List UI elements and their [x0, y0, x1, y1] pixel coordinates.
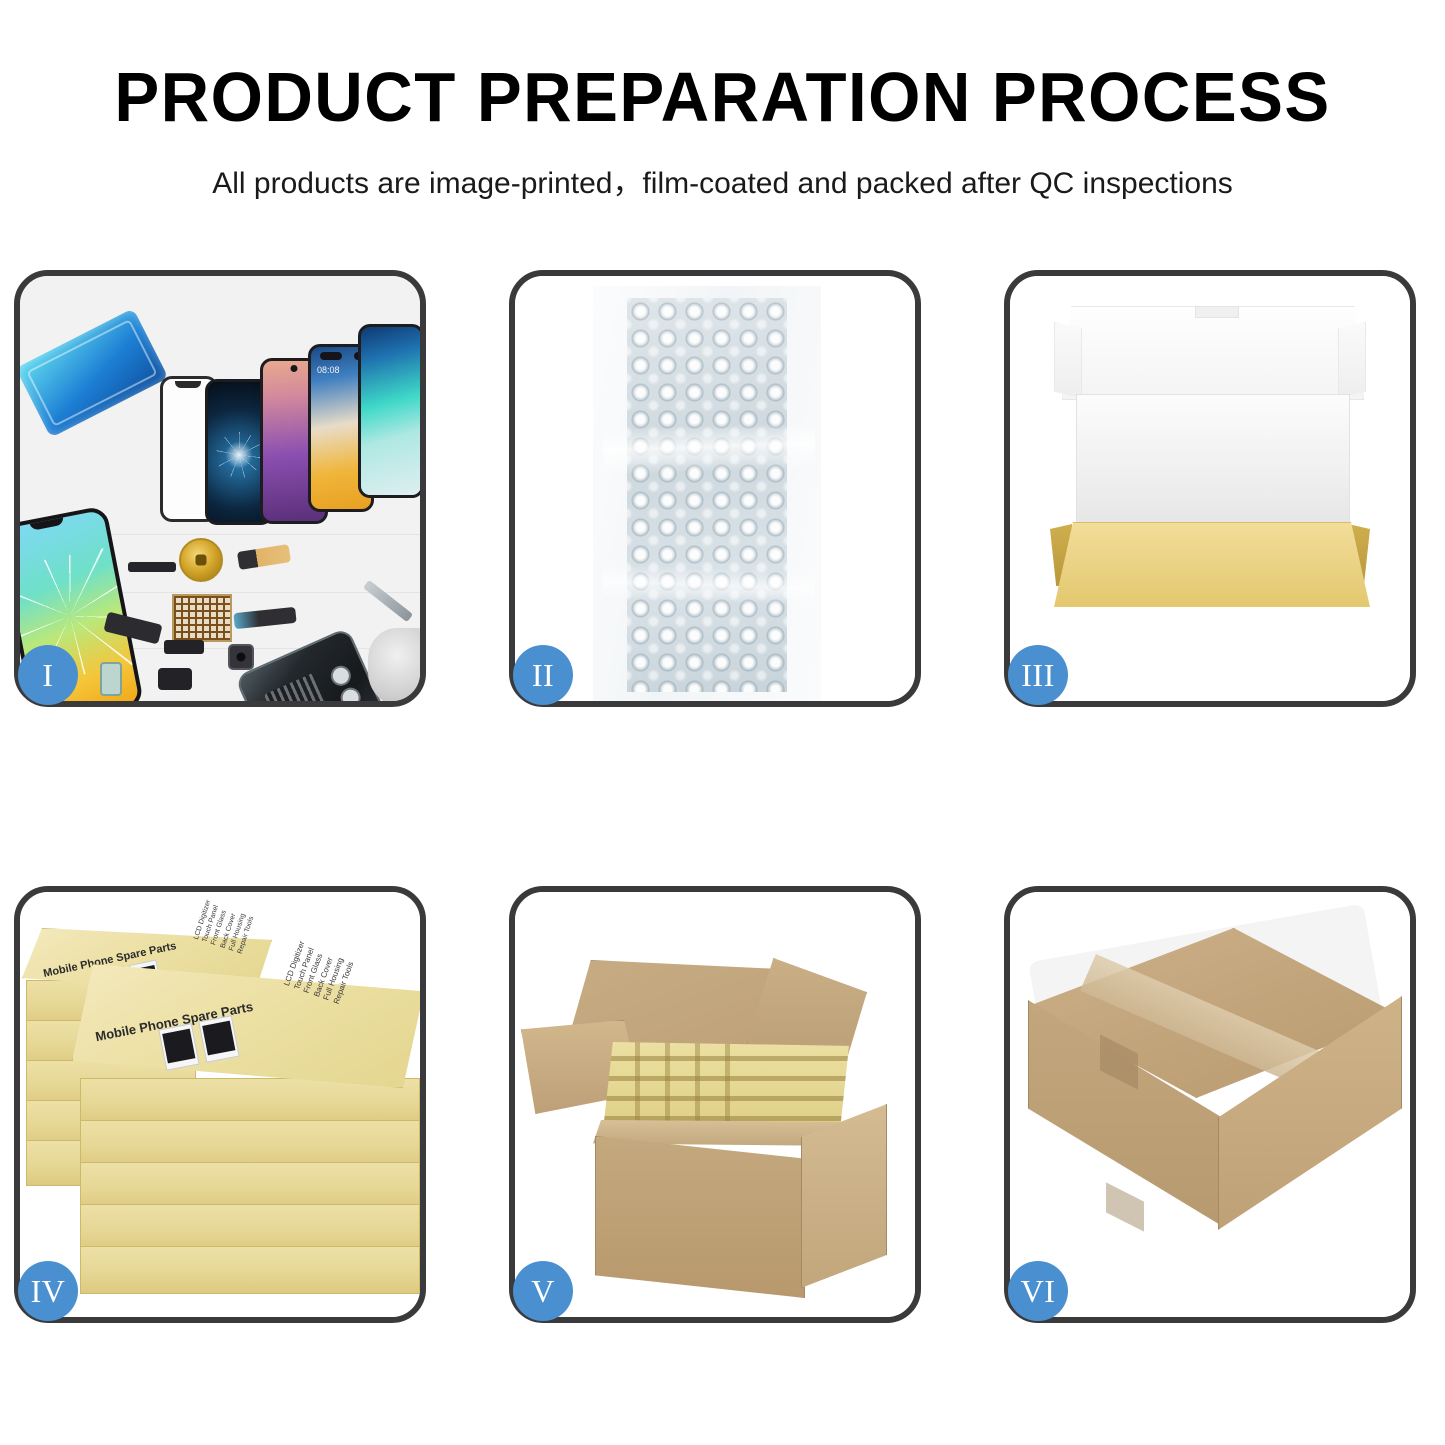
- retail-box-stack: Mobile Phone Spare Parts LCD Digitizer T…: [20, 892, 420, 1317]
- step-6-image: [1010, 892, 1410, 1317]
- carton-front-panel: [595, 1136, 805, 1298]
- step-badge-2: II: [513, 645, 573, 705]
- thumbnail-screen: [162, 1029, 195, 1064]
- thumbnail-screen: [202, 1021, 235, 1056]
- step-5-image: [515, 892, 915, 1317]
- speaker-coil-part: [179, 538, 223, 582]
- mailer-interior: [1076, 394, 1350, 524]
- earpiece-mesh-part: [128, 562, 176, 572]
- step-badge-5: V: [513, 1261, 573, 1321]
- page-title: PRODUCT PREPARATION PROCESS: [29, 62, 1416, 132]
- step-badge-1: I: [18, 645, 78, 705]
- process-step-6: VI: [1004, 886, 1416, 1323]
- process-step-2: II: [509, 270, 921, 707]
- process-step-1: 08:08 I: [14, 270, 426, 707]
- step-3-image: [1010, 276, 1410, 701]
- step-badge-6: VI: [1008, 1261, 1068, 1321]
- mailer-side-flap-right: [1338, 322, 1366, 398]
- wrap-highlight: [602, 422, 815, 475]
- retail-box: [80, 1246, 420, 1294]
- retail-box: [80, 1204, 420, 1252]
- mailer-side-flap-left: [1054, 322, 1082, 398]
- mailer-front-panel: [1054, 522, 1370, 607]
- step-badge-3: III: [1008, 645, 1068, 705]
- retail-box: [80, 1120, 420, 1168]
- bubble-grid: [627, 298, 787, 692]
- page-subtitle: All products are image-printed，film-coat…: [0, 158, 1445, 202]
- hand-holding-part: [368, 628, 420, 701]
- camera-lens: [328, 663, 354, 689]
- process-step-grid: 08:08 I: [14, 270, 1431, 1323]
- phone-clock-text: 08:08: [317, 365, 340, 376]
- step-2-image: [515, 276, 915, 701]
- process-step-4: Mobile Phone Spare Parts LCD Digitizer T…: [14, 886, 426, 1323]
- camera-lens: [337, 685, 363, 701]
- step-badge-4: IV: [18, 1261, 78, 1321]
- page-header: PRODUCT PREPARATION PROCESS All products…: [0, 0, 1445, 202]
- mailer-lid: [1062, 306, 1364, 400]
- ic-chip-part: [172, 594, 232, 642]
- vibrator-motor-part: [158, 668, 192, 690]
- process-step-3: III: [1004, 270, 1416, 707]
- phone-teal: [358, 324, 420, 498]
- connector-part: [164, 640, 204, 654]
- sim-tray-part: [100, 662, 122, 696]
- retail-box: [80, 1162, 420, 1210]
- camera-module-part: [228, 644, 254, 670]
- step-1-image: 08:08: [20, 276, 420, 701]
- process-step-5: V: [509, 886, 921, 1323]
- step-4-image: Mobile Phone Spare Parts LCD Digitizer T…: [20, 892, 420, 1317]
- punch-hole-pill: [320, 352, 342, 360]
